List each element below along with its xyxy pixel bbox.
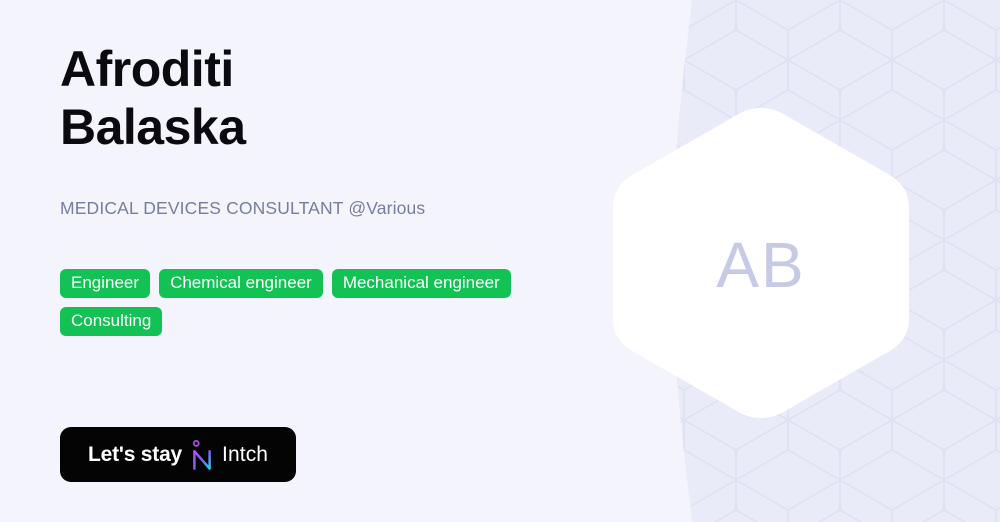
skill-tag[interactable]: Chemical engineer <box>159 269 323 298</box>
skill-tag[interactable]: Consulting <box>60 307 162 336</box>
skill-tag[interactable]: Engineer <box>60 269 150 298</box>
profile-headline: MEDICAL DEVICES CONSULTANT @Various <box>60 198 425 219</box>
lets-stay-intch-button[interactable]: Let's stay Intch <box>60 427 296 482</box>
skill-tag-list: Engineer Chemical engineer Mechanical en… <box>60 269 530 336</box>
intch-n-logo-icon <box>191 440 213 470</box>
profile-content: Afroditi Balaska MEDICAL DEVICES CONSULT… <box>60 0 600 522</box>
avatar-initials: AB <box>606 106 916 420</box>
cta-prefix-label: Let's stay <box>88 443 182 467</box>
profile-card: AB Afroditi Balaska MEDICAL DEVICES CONS… <box>0 0 1000 522</box>
avatar: AB <box>606 106 916 420</box>
skill-tag[interactable]: Mechanical engineer <box>332 269 511 298</box>
profile-name: Afroditi Balaska <box>60 40 490 156</box>
cta-brand-label: Intch <box>222 443 268 467</box>
